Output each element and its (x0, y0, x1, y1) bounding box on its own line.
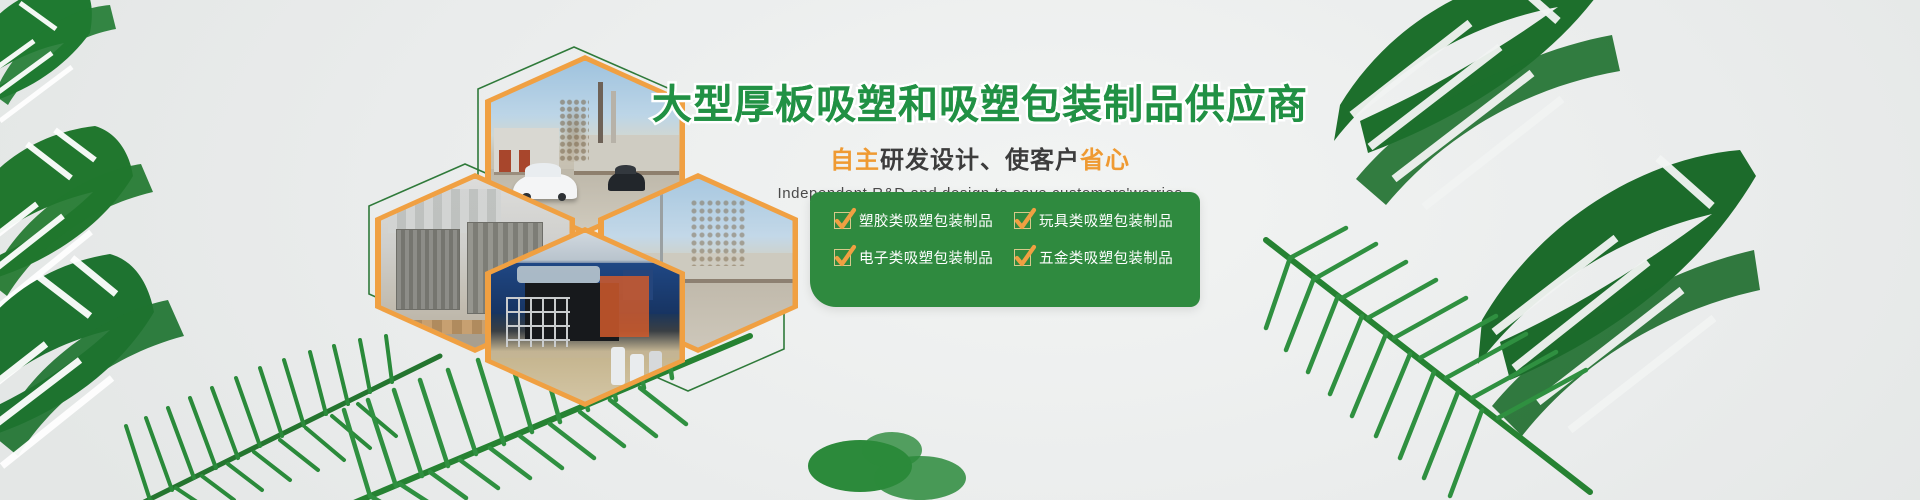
subheadline-highlight-end: 省心 (1080, 147, 1130, 174)
checkmark-icon (1014, 212, 1031, 229)
monstera-leaf-left-bottom (0, 250, 240, 500)
checkmark-icon (834, 212, 851, 229)
category-label: 玩具类吸塑包装制品 (1039, 210, 1173, 231)
promo-banner: 大型厚板吸塑和吸塑包装制品供应商 大型厚板吸塑和吸塑包装制品供应商 自主研发设计… (0, 0, 1920, 500)
list-item[interactable]: 五金类吸塑包装制品 (1014, 247, 1184, 268)
checkmark-icon (1014, 249, 1031, 266)
checkmark-icon (834, 249, 851, 266)
category-label: 塑胶类吸塑包装制品 (859, 210, 993, 231)
workshop-photo (491, 233, 680, 402)
list-item[interactable]: 塑胶类吸塑包装制品 (834, 210, 1004, 231)
hex-image-mask (491, 233, 680, 402)
list-item[interactable]: 玩具类吸塑包装制品 (1014, 210, 1184, 231)
subheadline: 自主研发设计、使客户省心 (640, 140, 1320, 175)
subheadline-highlight-start: 自主 (830, 147, 880, 174)
subheadline-middle: 研发设计、使客户 (880, 147, 1080, 174)
product-category-panel: 塑胶类吸塑包装制品 玩具类吸塑包装制品 电子类吸塑包装制品 (810, 192, 1200, 307)
monstera-leaf-right-top (1290, 0, 1620, 235)
list-item[interactable]: 电子类吸塑包装制品 (834, 247, 1004, 268)
monstera-leaf-left-mid (0, 120, 205, 340)
product-category-list: 塑胶类吸塑包装制品 玩具类吸塑包装制品 电子类吸塑包装制品 (834, 210, 1184, 268)
monstera-leaf-left-top (0, 0, 170, 165)
palm-frond-bottom-center-small (800, 400, 990, 500)
monstera-leaf-right-bottom (1430, 140, 1760, 440)
hexagon-photo-workshop[interactable] (485, 227, 685, 407)
palm-frond-bottom-right (1260, 200, 1660, 500)
page-title: 大型厚板吸塑和吸塑包装制品供应商 (640, 72, 1320, 130)
category-label: 五金类吸塑包装制品 (1039, 247, 1173, 268)
hex-border (485, 227, 685, 407)
headline-wrap: 大型厚板吸塑和吸塑包装制品供应商 大型厚板吸塑和吸塑包装制品供应商 (640, 72, 1320, 124)
headline-copy-block: 大型厚板吸塑和吸塑包装制品供应商 大型厚板吸塑和吸塑包装制品供应商 自主研发设计… (640, 72, 1320, 202)
category-label: 电子类吸塑包装制品 (859, 247, 993, 268)
